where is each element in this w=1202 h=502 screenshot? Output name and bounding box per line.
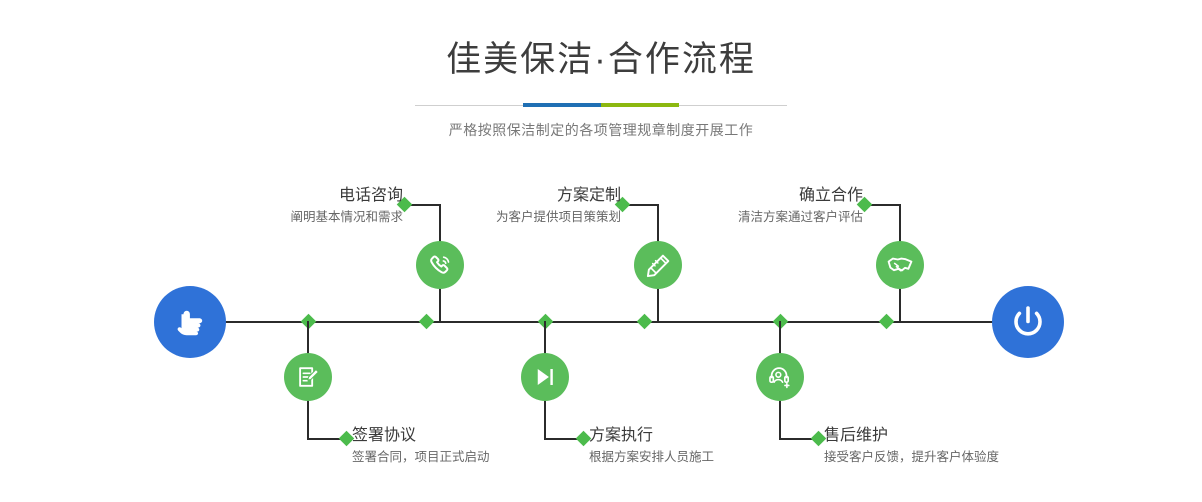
step-desc: 签署合同，项目正式启动 (352, 448, 582, 466)
step-title: 签署协议 (352, 426, 582, 446)
step-node-2[interactable] (284, 353, 332, 401)
step-label-6: 售后维护 接受客户反馈，提升客户体验度 (824, 426, 1084, 466)
step-desc: 为客户提供项目策策划 (406, 208, 621, 226)
step-node-5[interactable] (876, 241, 924, 289)
pointing-hand-icon (170, 302, 210, 342)
timeline-end-endpoint[interactable] (992, 286, 1064, 358)
step-title: 电话咨询 (188, 186, 403, 206)
process-flow-infographic: 佳美保洁·合作流程 严格按照保洁制定的各项管理规章制度开展工作 (0, 0, 1202, 502)
step-node-1[interactable] (416, 241, 464, 289)
divider-segment-green (601, 103, 679, 107)
header: 佳美保洁·合作流程 严格按照保洁制定的各项管理规章制度开展工作 (0, 0, 1202, 140)
step-label-3: 方案定制 为客户提供项目策策划 (406, 186, 621, 226)
step-node-6[interactable] (756, 353, 804, 401)
step-label-5: 确立合作 清洁方案通过客户评估 (648, 186, 863, 226)
page-title: 佳美保洁·合作流程 (0, 42, 1202, 77)
step-desc: 阐明基本情况和需求 (188, 208, 403, 226)
step-title: 确立合作 (648, 186, 863, 206)
step-desc: 接受客户反馈，提升客户体验度 (824, 448, 1084, 466)
step-title: 方案执行 (589, 426, 819, 446)
step-title: 售后维护 (824, 426, 1084, 446)
handshake-icon (886, 251, 914, 279)
page-subtitle: 严格按照保洁制定的各项管理规章制度开展工作 (0, 120, 1202, 140)
step-node-4[interactable] (521, 353, 569, 401)
phone-call-icon (427, 252, 454, 279)
title-divider (415, 103, 787, 107)
step-title: 方案定制 (406, 186, 621, 206)
axis-marker (637, 314, 653, 330)
step-label-2: 签署协议 签署合同，项目正式启动 (352, 426, 582, 466)
divider-segment-blue (523, 103, 601, 107)
timeline-start-endpoint[interactable] (154, 286, 226, 358)
step-node-3[interactable] (634, 241, 682, 289)
step-label-1: 电话咨询 阐明基本情况和需求 (188, 186, 403, 226)
axis-marker (419, 314, 435, 330)
step-desc: 根据方案安排人员施工 (589, 448, 819, 466)
step-desc: 清洁方案通过客户评估 (648, 208, 863, 226)
document-edit-icon (295, 364, 321, 390)
play-execute-icon (532, 364, 558, 390)
customer-service-icon (767, 364, 793, 390)
step-label-4: 方案执行 根据方案安排人员施工 (589, 426, 819, 466)
timeline-axis (170, 321, 1032, 323)
power-icon (1007, 301, 1049, 343)
axis-marker (879, 314, 895, 330)
pencil-ruler-icon (645, 252, 672, 279)
